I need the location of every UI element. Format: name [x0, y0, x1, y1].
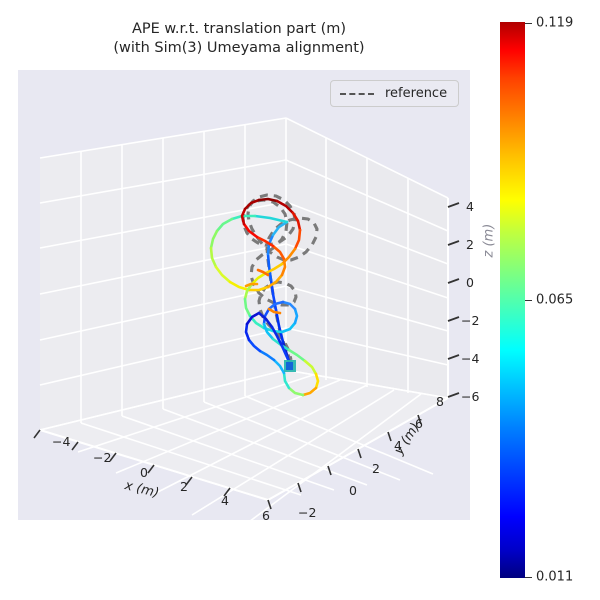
- z-tick-label-2: 0: [466, 275, 474, 290]
- colorbar-gradient: [500, 22, 525, 578]
- z-tick-label-1: 2: [466, 237, 474, 252]
- legend-box[interactable]: reference: [330, 80, 459, 107]
- y-tick-label-2: 2: [372, 461, 380, 476]
- page-title: APE w.r.t. translation part (m) (with Si…: [0, 20, 478, 58]
- colorbar-label-max: 0.119: [536, 16, 573, 31]
- colorbar-label-min: 0.011: [536, 570, 573, 585]
- x-tick-label-1: −2: [93, 450, 111, 465]
- x-tick-label-2: 0: [140, 465, 148, 480]
- y-tick-label-1: 0: [349, 483, 357, 498]
- y-tick-label-5: 8: [436, 394, 444, 409]
- z-axis-ticks: [448, 203, 459, 397]
- colorbar-tick-max: [525, 23, 532, 24]
- y-tick-label-0: −2: [298, 505, 316, 520]
- z-axis-label: z (m): [482, 224, 497, 258]
- z-tick-label-3: −2: [461, 313, 479, 328]
- x-tick-label-5: 6: [262, 508, 270, 523]
- z-tick-label-4: −4: [461, 351, 479, 366]
- x-tick-label-3: 2: [180, 479, 188, 494]
- legend-label-reference: reference: [385, 86, 447, 101]
- colorbar-label-mid: 0.065: [536, 293, 573, 308]
- colorbar-tick-mid: [525, 300, 532, 301]
- trajectory-endpoint-marker: [284, 360, 296, 372]
- colorbar-tick-min: [525, 577, 532, 578]
- figure-canvas: APE w.r.t. translation part (m) (with Si…: [0, 0, 600, 600]
- legend-dashed-line-icon: [340, 93, 374, 95]
- z-tick-label-0: 4: [466, 199, 474, 214]
- colorbar[interactable]: 0.119 0.065 0.011: [500, 22, 525, 578]
- x-tick-label-4: 4: [221, 493, 229, 508]
- x-tick-label-0: −4: [52, 434, 70, 449]
- z-tick-label-5: −6: [461, 389, 479, 404]
